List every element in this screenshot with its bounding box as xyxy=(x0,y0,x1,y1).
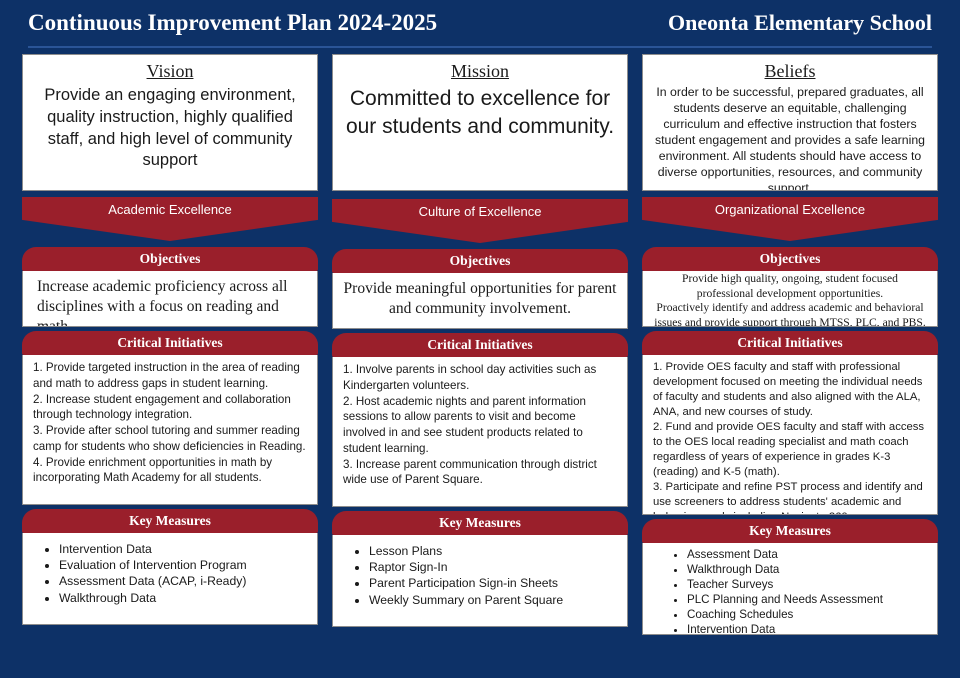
initiative-item: 3. Participate and refine PST process an… xyxy=(653,480,927,515)
mission-title: Mission xyxy=(341,60,619,83)
initiative-item: 2. Host academic nights and parent infor… xyxy=(343,394,617,457)
objectives-section-2: Objectives Provide meaningful opportunit… xyxy=(332,249,628,329)
objectives-heading: Objectives xyxy=(22,247,318,271)
list-item: Parent Participation Sign-in Sheets xyxy=(369,575,617,591)
pennant-organizational-excellence-wrap: Organizational Excellence xyxy=(642,197,938,243)
pennant-label: Academic Excellence xyxy=(108,197,232,217)
beliefs-title: Beliefs xyxy=(651,60,929,83)
column-organizational-excellence: Beliefs In order to be successful, prepa… xyxy=(642,54,938,678)
initiative-item: 4. Provide enrichment opportunities in m… xyxy=(33,455,307,487)
poster-header: Continuous Improvement Plan 2024-2025 On… xyxy=(0,0,960,50)
beliefs-box: Beliefs In order to be successful, prepa… xyxy=(642,54,938,191)
initiatives-heading: Critical Initiatives xyxy=(22,331,318,355)
initiatives-section-3: Critical Initiatives 1. Provide OES facu… xyxy=(642,331,938,515)
measures-heading: Key Measures xyxy=(22,509,318,533)
list-item: Evaluation of Intervention Program xyxy=(59,557,307,573)
list-item: Walkthrough Data xyxy=(59,590,307,606)
list-item: Intervention Data xyxy=(59,541,307,557)
initiatives-section-2: Critical Initiatives 1. Involve parents … xyxy=(332,333,628,507)
columns-container: Vision Provide an engaging environment, … xyxy=(0,54,960,678)
page-title: Continuous Improvement Plan 2024-2025 xyxy=(28,8,437,38)
measures-heading: Key Measures xyxy=(332,511,628,535)
initiatives-section-1: Critical Initiatives 1. Provide targeted… xyxy=(22,331,318,505)
pennant-label: Culture of Excellence xyxy=(419,199,542,219)
measures-list: Assessment Data Walkthrough Data Teacher… xyxy=(653,547,927,635)
initiative-item: 1. Provide OES faculty and staff with pr… xyxy=(653,360,927,420)
objective-line: Provide high quality, ongoing, student f… xyxy=(653,272,927,301)
vision-text: Provide an engaging environment, quality… xyxy=(31,85,309,172)
list-item: Raptor Sign-In xyxy=(369,559,617,575)
initiatives-heading: Critical Initiatives xyxy=(642,331,938,355)
mission-text: Committed to excellence for our students… xyxy=(341,85,619,142)
beliefs-text: In order to be successful, prepared grad… xyxy=(651,85,929,191)
initiative-item: 3. Provide after school tutoring and sum… xyxy=(33,423,307,455)
objective-line: Increase academic proficiency across all… xyxy=(37,277,307,327)
objective-line: Proactively identify and address academi… xyxy=(653,301,927,327)
initiative-item: 1. Involve parents in school day activit… xyxy=(343,362,617,394)
objectives-heading: Objectives xyxy=(642,247,938,271)
initiatives-body: 1. Provide targeted instruction in the a… xyxy=(22,355,318,505)
pennant-academic-excellence-wrap: Academic Excellence xyxy=(22,197,318,243)
vision-box: Vision Provide an engaging environment, … xyxy=(22,54,318,191)
list-item: Walkthrough Data xyxy=(687,562,927,577)
list-item: Teacher Surveys xyxy=(687,577,927,592)
initiative-item: 2. Increase student engagement and colla… xyxy=(33,392,307,424)
initiative-item: 2. Fund and provide OES faculty and staf… xyxy=(653,420,927,480)
measures-section-2: Key Measures Lesson Plans Raptor Sign-In… xyxy=(332,511,628,627)
pennant-label: Organizational Excellence xyxy=(715,197,865,217)
list-item: PLC Planning and Needs Assessment xyxy=(687,592,927,607)
initiatives-heading: Critical Initiatives xyxy=(332,333,628,357)
pennant-academic-excellence: Academic Excellence xyxy=(22,197,318,241)
objectives-body: Provide meaningful opportunities for par… xyxy=(332,273,628,329)
list-item: Intervention Data xyxy=(687,622,927,635)
initiatives-body: 1. Involve parents in school day activit… xyxy=(332,357,628,507)
school-name: Oneonta Elementary School xyxy=(668,8,932,38)
measures-section-3: Key Measures Assessment Data Walkthrough… xyxy=(642,519,938,635)
vision-title: Vision xyxy=(31,60,309,83)
list-item: Lesson Plans xyxy=(369,543,617,559)
objective-line: Provide meaningful opportunities for par… xyxy=(343,279,617,319)
measures-body: Lesson Plans Raptor Sign-In Parent Parti… xyxy=(332,535,628,627)
column-academic-excellence: Vision Provide an engaging environment, … xyxy=(22,54,318,678)
measures-list: Intervention Data Evaluation of Interven… xyxy=(33,541,307,606)
list-item: Assessment Data xyxy=(687,547,927,562)
column-culture-of-excellence: Mission Committed to excellence for our … xyxy=(332,54,628,678)
objectives-heading: Objectives xyxy=(332,249,628,273)
measures-body: Intervention Data Evaluation of Interven… xyxy=(22,533,318,625)
header-divider xyxy=(28,46,932,48)
measures-section-1: Key Measures Intervention Data Evaluatio… xyxy=(22,509,318,625)
list-item: Assessment Data (ACAP, i-Ready) xyxy=(59,573,307,589)
list-item: Coaching Schedules xyxy=(687,607,927,622)
initiatives-body: 1. Provide OES faculty and staff with pr… xyxy=(642,355,938,515)
pennant-culture-of-excellence: Culture of Excellence xyxy=(332,199,628,243)
pennant-organizational-excellence: Organizational Excellence xyxy=(642,197,938,241)
list-item: Weekly Summary on Parent Square xyxy=(369,592,617,608)
objectives-body: Increase academic proficiency across all… xyxy=(22,271,318,327)
initiative-item: 1. Provide targeted instruction in the a… xyxy=(33,360,307,392)
measures-list: Lesson Plans Raptor Sign-In Parent Parti… xyxy=(343,543,617,608)
continuous-improvement-plan-poster: Continuous Improvement Plan 2024-2025 On… xyxy=(0,0,960,678)
measures-heading: Key Measures xyxy=(642,519,938,543)
objectives-body: Provide high quality, ongoing, student f… xyxy=(642,271,938,327)
objectives-section-3: Objectives Provide high quality, ongoing… xyxy=(642,247,938,327)
mission-box: Mission Committed to excellence for our … xyxy=(332,54,628,191)
initiative-item: 3. Increase parent communication through… xyxy=(343,457,617,489)
measures-body: Assessment Data Walkthrough Data Teacher… xyxy=(642,543,938,635)
objectives-section-1: Objectives Increase academic proficiency… xyxy=(22,247,318,327)
pennant-culture-of-excellence-wrap: Culture of Excellence xyxy=(332,199,628,245)
